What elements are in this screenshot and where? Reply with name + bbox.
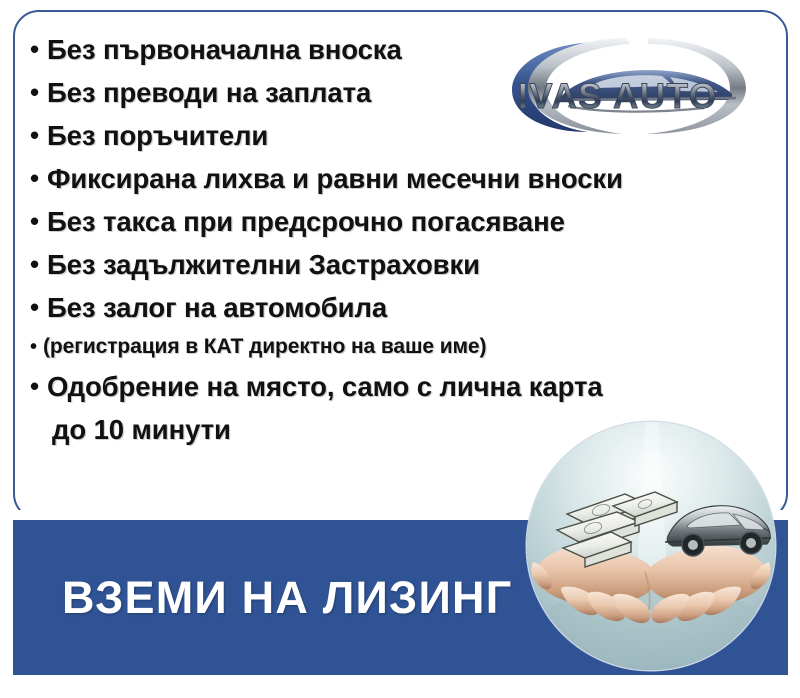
hands-money-car-photo	[527, 422, 775, 670]
list-item: Без залог на автомобила	[30, 286, 786, 329]
ivas-auto-logo: IVAS AUTO	[498, 28, 760, 140]
list-item: Без такса при предсрочно погасяване	[30, 200, 786, 243]
poster-root: Без първоначална вноска Без преводи на з…	[0, 0, 800, 698]
logo-wordmark: IVAS AUTO	[518, 77, 718, 116]
list-item: Фиксирана лихва и равни месечни вноски	[30, 157, 786, 200]
banner-headline: ВЗЕМИ НА ЛИЗИНГ	[62, 570, 512, 626]
list-item-note: (регистрация в КАТ директно на ваше име)	[30, 329, 786, 365]
list-item: Одобрение на място, само с лична карта	[30, 365, 786, 408]
list-item: Без задължителни Застраховки	[30, 243, 786, 286]
